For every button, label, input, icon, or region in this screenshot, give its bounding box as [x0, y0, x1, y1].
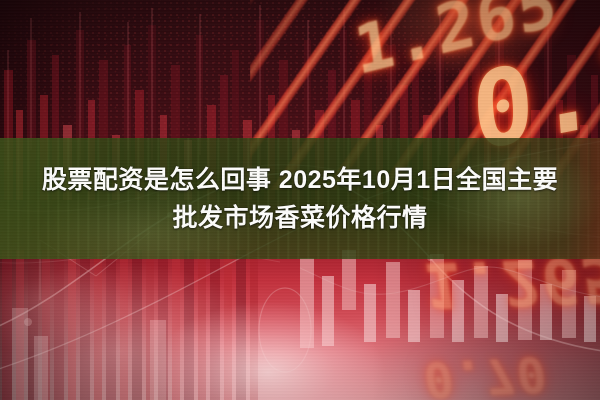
banner-image: 1.265 0.70	[0, 0, 600, 400]
vignette-overlay	[0, 0, 600, 400]
